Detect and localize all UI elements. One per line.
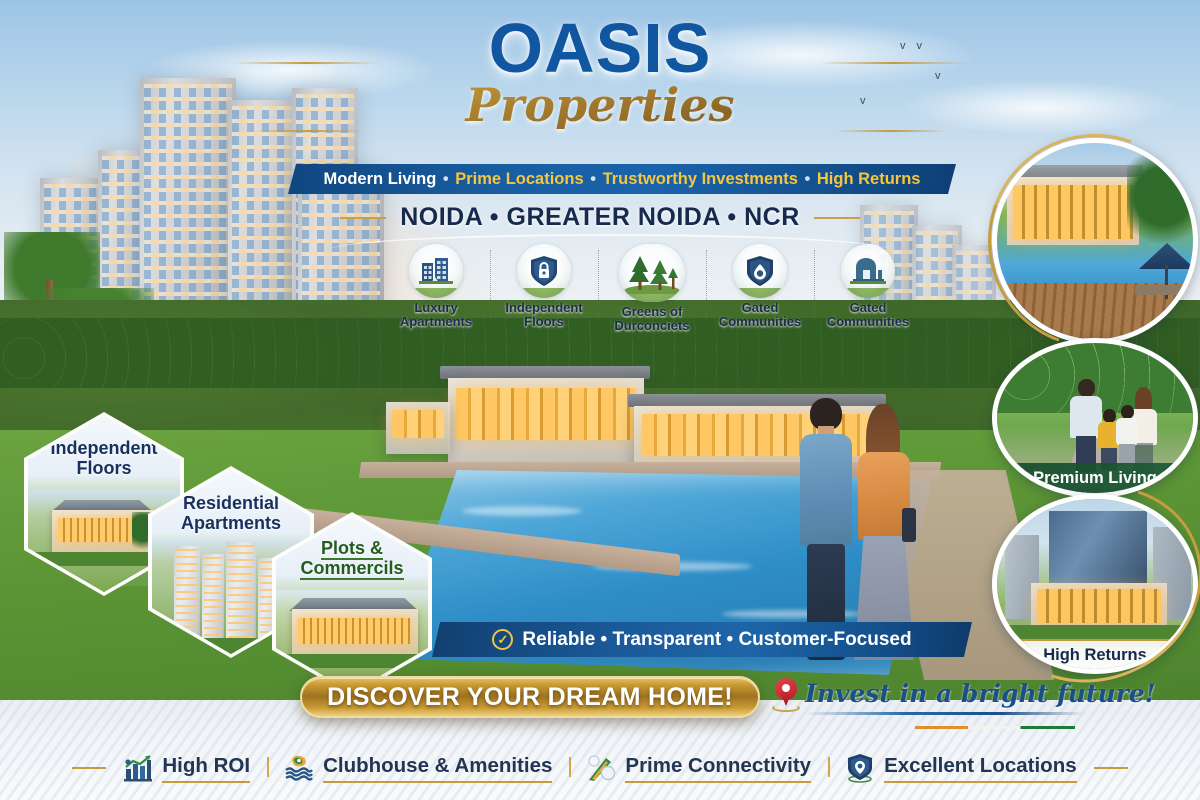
footer-rule-right: [1094, 767, 1128, 769]
brand-subtitle: Properties: [0, 81, 1200, 129]
badge-gated-communities-1[interactable]: GatedCommunities: [706, 242, 814, 338]
shield-location-icon: [845, 753, 875, 783]
gold-rule-right-2: [835, 130, 947, 132]
commercial-windows: [298, 618, 410, 644]
couple-man: [796, 398, 854, 658]
hex-title: Plots &Commercils: [288, 539, 416, 579]
cta-button-label: DISCOVER YOUR DREAM HOME!: [327, 683, 733, 712]
check-circle-icon: ✓: [492, 629, 513, 650]
badge-luxury-apartments[interactable]: LuxuryApartments: [382, 242, 490, 338]
region-rule-right: [814, 217, 860, 219]
tagline-sep-0: •: [441, 170, 451, 188]
clubhouse-far-left-windows: [392, 410, 444, 438]
badge-independent-floors[interactable]: IndependentFloors: [490, 242, 598, 338]
trees-icon: [619, 244, 685, 302]
footer-item-label: High ROI: [162, 754, 250, 783]
circle-caption: Premium Living: [997, 463, 1193, 493]
couple-woman: [852, 404, 918, 660]
office-buildings-icon: [409, 244, 463, 298]
badge-label: GatedCommunities: [719, 301, 801, 329]
woman-bag: [902, 508, 916, 542]
discover-dream-home-button[interactable]: DISCOVER YOUR DREAM HOME!: [300, 676, 760, 718]
footer-item-label: Excellent Locations: [884, 754, 1077, 783]
footer-rule-left: [72, 767, 106, 769]
tagline-sep-2: •: [802, 170, 812, 188]
tagline-ribbon: Modern Living • Prime Locations • Trustw…: [288, 164, 956, 194]
tagline-item-1: Prime Locations: [455, 170, 583, 188]
feature-badges: LuxuryApartments IndependentFloors: [382, 242, 922, 338]
circle-photo-villa-pool[interactable]: [992, 138, 1198, 344]
villa-with-pool-photo: [997, 143, 1193, 339]
apartment-tower-2: [202, 554, 224, 638]
man-shirt: [800, 434, 852, 546]
apartment-tower-3: [226, 542, 256, 638]
footer-item-label: Prime Connectivity: [625, 754, 811, 783]
badge-gated-communities-2[interactable]: GatedCommunities: [814, 242, 922, 338]
location-pin-icon: [775, 678, 797, 708]
villa-2-windows: [1013, 185, 1133, 239]
shield-drop-icon: [733, 244, 787, 298]
father-head: [1078, 379, 1095, 397]
gate-icon: [841, 244, 895, 298]
brand-block: OASIS Properties: [0, 14, 1200, 129]
gold-rule-left-2: [253, 130, 365, 132]
footer-item-label: Clubhouse & Amenities: [323, 754, 552, 783]
trust-banner-text: Reliable • Transparent • Customer-Focuse…: [522, 629, 911, 651]
office-lit-windows: [1037, 589, 1161, 623]
office-tower-main-glass: [1049, 511, 1147, 591]
badge-label: LuxuryApartments: [400, 301, 472, 329]
badge-label: GatedCommunities: [827, 301, 909, 329]
hex-title: ResidentialApartments: [165, 494, 298, 534]
circle-caption: High Returns: [997, 639, 1193, 669]
tagline-text: Modern Living • Prime Locations • Trustw…: [324, 170, 921, 189]
footer-item-clubhouse-amenities[interactable]: Clubhouse & Amenities: [267, 753, 569, 783]
footer-item-prime-connectivity[interactable]: Prime Connectivity: [569, 753, 828, 783]
tagline-item-0: Modern Living: [324, 170, 437, 188]
child-2-figure: [1115, 405, 1139, 471]
tricolor-accent: [915, 726, 1075, 729]
footer-item-high-roi[interactable]: High ROI: [106, 753, 267, 783]
tagline-item-3: High Returns: [817, 170, 921, 188]
advertisement-poster: v v v v: [0, 0, 1200, 800]
shield-lock-icon: [517, 244, 571, 298]
invest-tagline: Invest in a bright future!: [775, 678, 1156, 708]
pin-hole: [782, 684, 790, 692]
child-2-shirt: [1116, 418, 1138, 446]
footer-item-excellent-locations[interactable]: Excellent Locations: [828, 753, 1094, 783]
invest-text: Invest in a bright future!: [805, 679, 1156, 708]
hex-title: IndependentFloors: [40, 439, 168, 479]
region-text: NOIDA • GREATER NOIDA • NCR: [400, 203, 800, 232]
footer-features: High ROI Clubhouse & Amenities: [0, 744, 1200, 792]
circle-photo-premium-living[interactable]: Premium Living: [992, 338, 1198, 498]
pool-waves-icon: [284, 753, 314, 783]
lounger: [1135, 285, 1181, 295]
pool-reflection-1: [462, 506, 582, 516]
apartment-tower-1: [174, 546, 200, 638]
pin-shadow: [772, 704, 800, 712]
badge-greens[interactable]: Greens ofDurconciets: [598, 242, 706, 338]
clubhouse-left-windows: [456, 388, 636, 440]
trust-banner: ✓ Reliable • Transparent • Customer-Focu…: [432, 622, 972, 657]
badge-label: IndependentFloors: [505, 301, 582, 329]
tagline-item-2: Trustworthy Investments: [603, 170, 798, 188]
circle-photo-high-returns[interactable]: High Returns: [992, 494, 1198, 674]
poolside-trees: [1127, 153, 1198, 249]
invest-underline: [805, 712, 1085, 715]
bar-chart-growth-icon: [123, 753, 153, 783]
tagline-sep-1: •: [588, 170, 598, 188]
road-junction-icon: [586, 753, 616, 783]
child-2-head: [1121, 405, 1134, 419]
region-rule-left: [340, 217, 386, 219]
badge-label: Greens ofDurconciets: [614, 305, 689, 333]
page-title: OASIS: [0, 14, 1200, 83]
